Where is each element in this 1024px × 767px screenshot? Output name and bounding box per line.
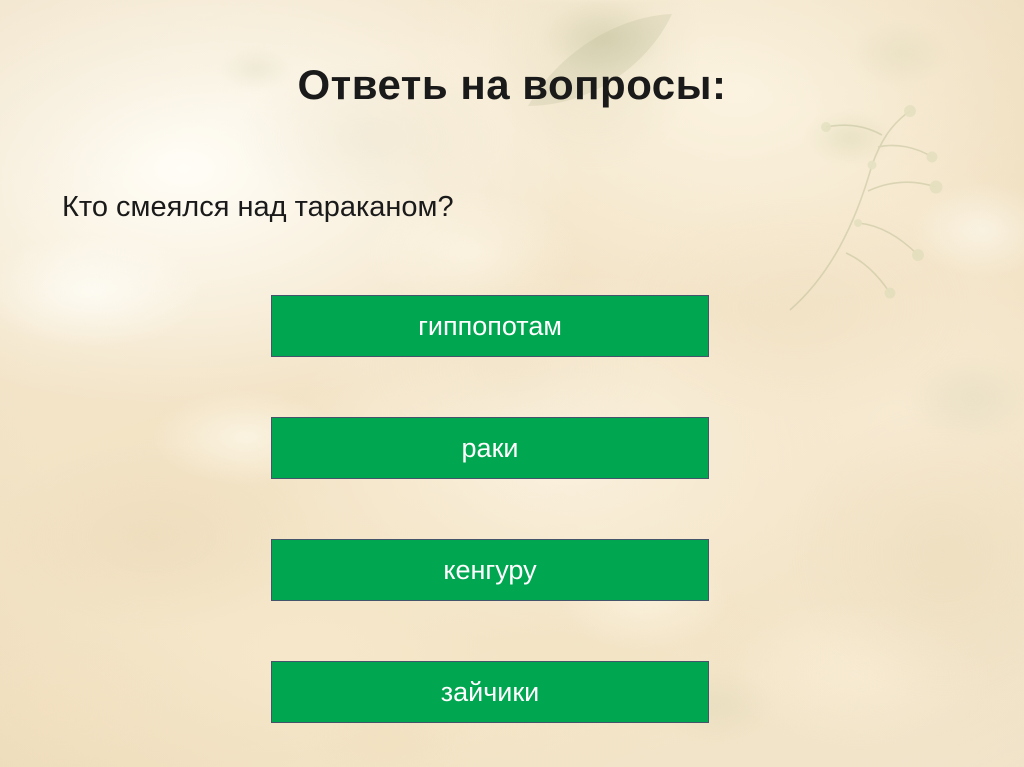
question-text: Кто смеялся над тараканом? [62,190,454,225]
answer-option-3[interactable]: кенгуру [271,539,709,601]
page-title: Ответь на вопросы: [0,62,1024,108]
answer-option-4[interactable]: зайчики [271,661,709,723]
answer-option-2[interactable]: раки [271,417,709,479]
slide-canvas: Ответь на вопросы: Кто смеялся над тарак… [0,0,1024,767]
slide-content: Ответь на вопросы: Кто смеялся над тарак… [0,0,1024,767]
answer-options-list: гиппопотам раки кенгуру зайчики [271,295,709,723]
answer-option-1[interactable]: гиппопотам [271,295,709,357]
